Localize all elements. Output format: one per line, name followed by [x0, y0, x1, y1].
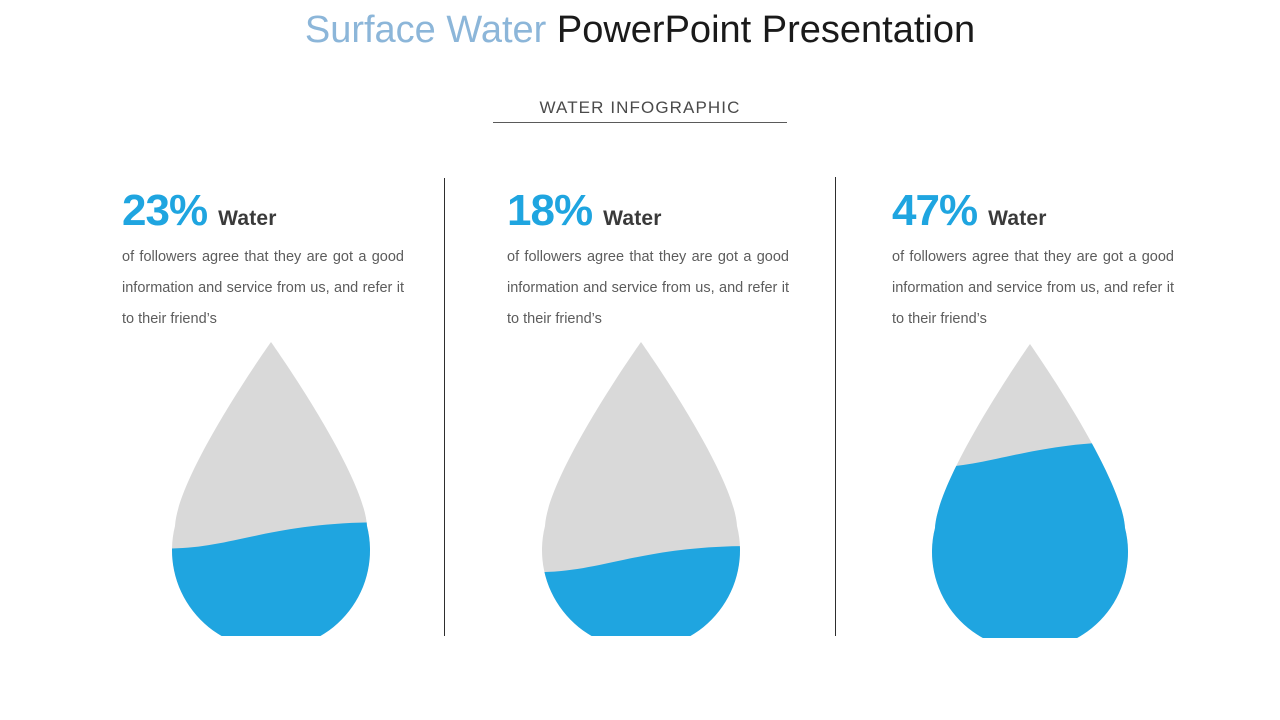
droplet-svg [168, 340, 374, 636]
droplet-svg [928, 342, 1132, 638]
droplet-svg [538, 340, 744, 636]
stat-column-1: 23% Water of followers agree that they a… [122, 186, 404, 335]
droplet-water-fill [928, 441, 1132, 638]
stat-description: of followers agree that they are got a g… [892, 242, 1174, 335]
percent-unit-label: Water [603, 194, 662, 244]
percent-unit-label: Water [988, 194, 1047, 244]
water-droplet-gauge-2 [538, 340, 744, 641]
subtitle-block: WATER INFOGRAPHIC [0, 98, 1280, 123]
percent-unit-label: Water [218, 194, 277, 244]
percent-value: 47% [892, 186, 977, 236]
water-droplet-gauge-1 [168, 340, 374, 641]
column-divider-2 [835, 177, 836, 636]
stat-description: of followers agree that they are got a g… [507, 242, 789, 335]
column-divider-1 [444, 178, 445, 636]
stat-heading: 23% Water [122, 186, 404, 236]
stat-heading: 18% Water [507, 186, 789, 236]
subtitle-underline [493, 122, 787, 123]
page-title: Surface Water PowerPoint Presentation [0, 8, 1280, 52]
stat-column-3: 47% Water of followers agree that they a… [892, 186, 1174, 335]
water-droplet-gauge-3 [928, 342, 1132, 643]
stat-heading: 47% Water [892, 186, 1174, 236]
page-title-accent: Surface Water [305, 9, 546, 51]
percent-value: 23% [122, 186, 207, 236]
stat-description: of followers agree that they are got a g… [122, 242, 404, 335]
page-title-plain: PowerPoint Presentation [557, 9, 975, 51]
stat-column-2: 18% Water of followers agree that they a… [507, 186, 789, 335]
percent-value: 18% [507, 186, 592, 236]
subtitle-text: WATER INFOGRAPHIC [540, 98, 741, 118]
